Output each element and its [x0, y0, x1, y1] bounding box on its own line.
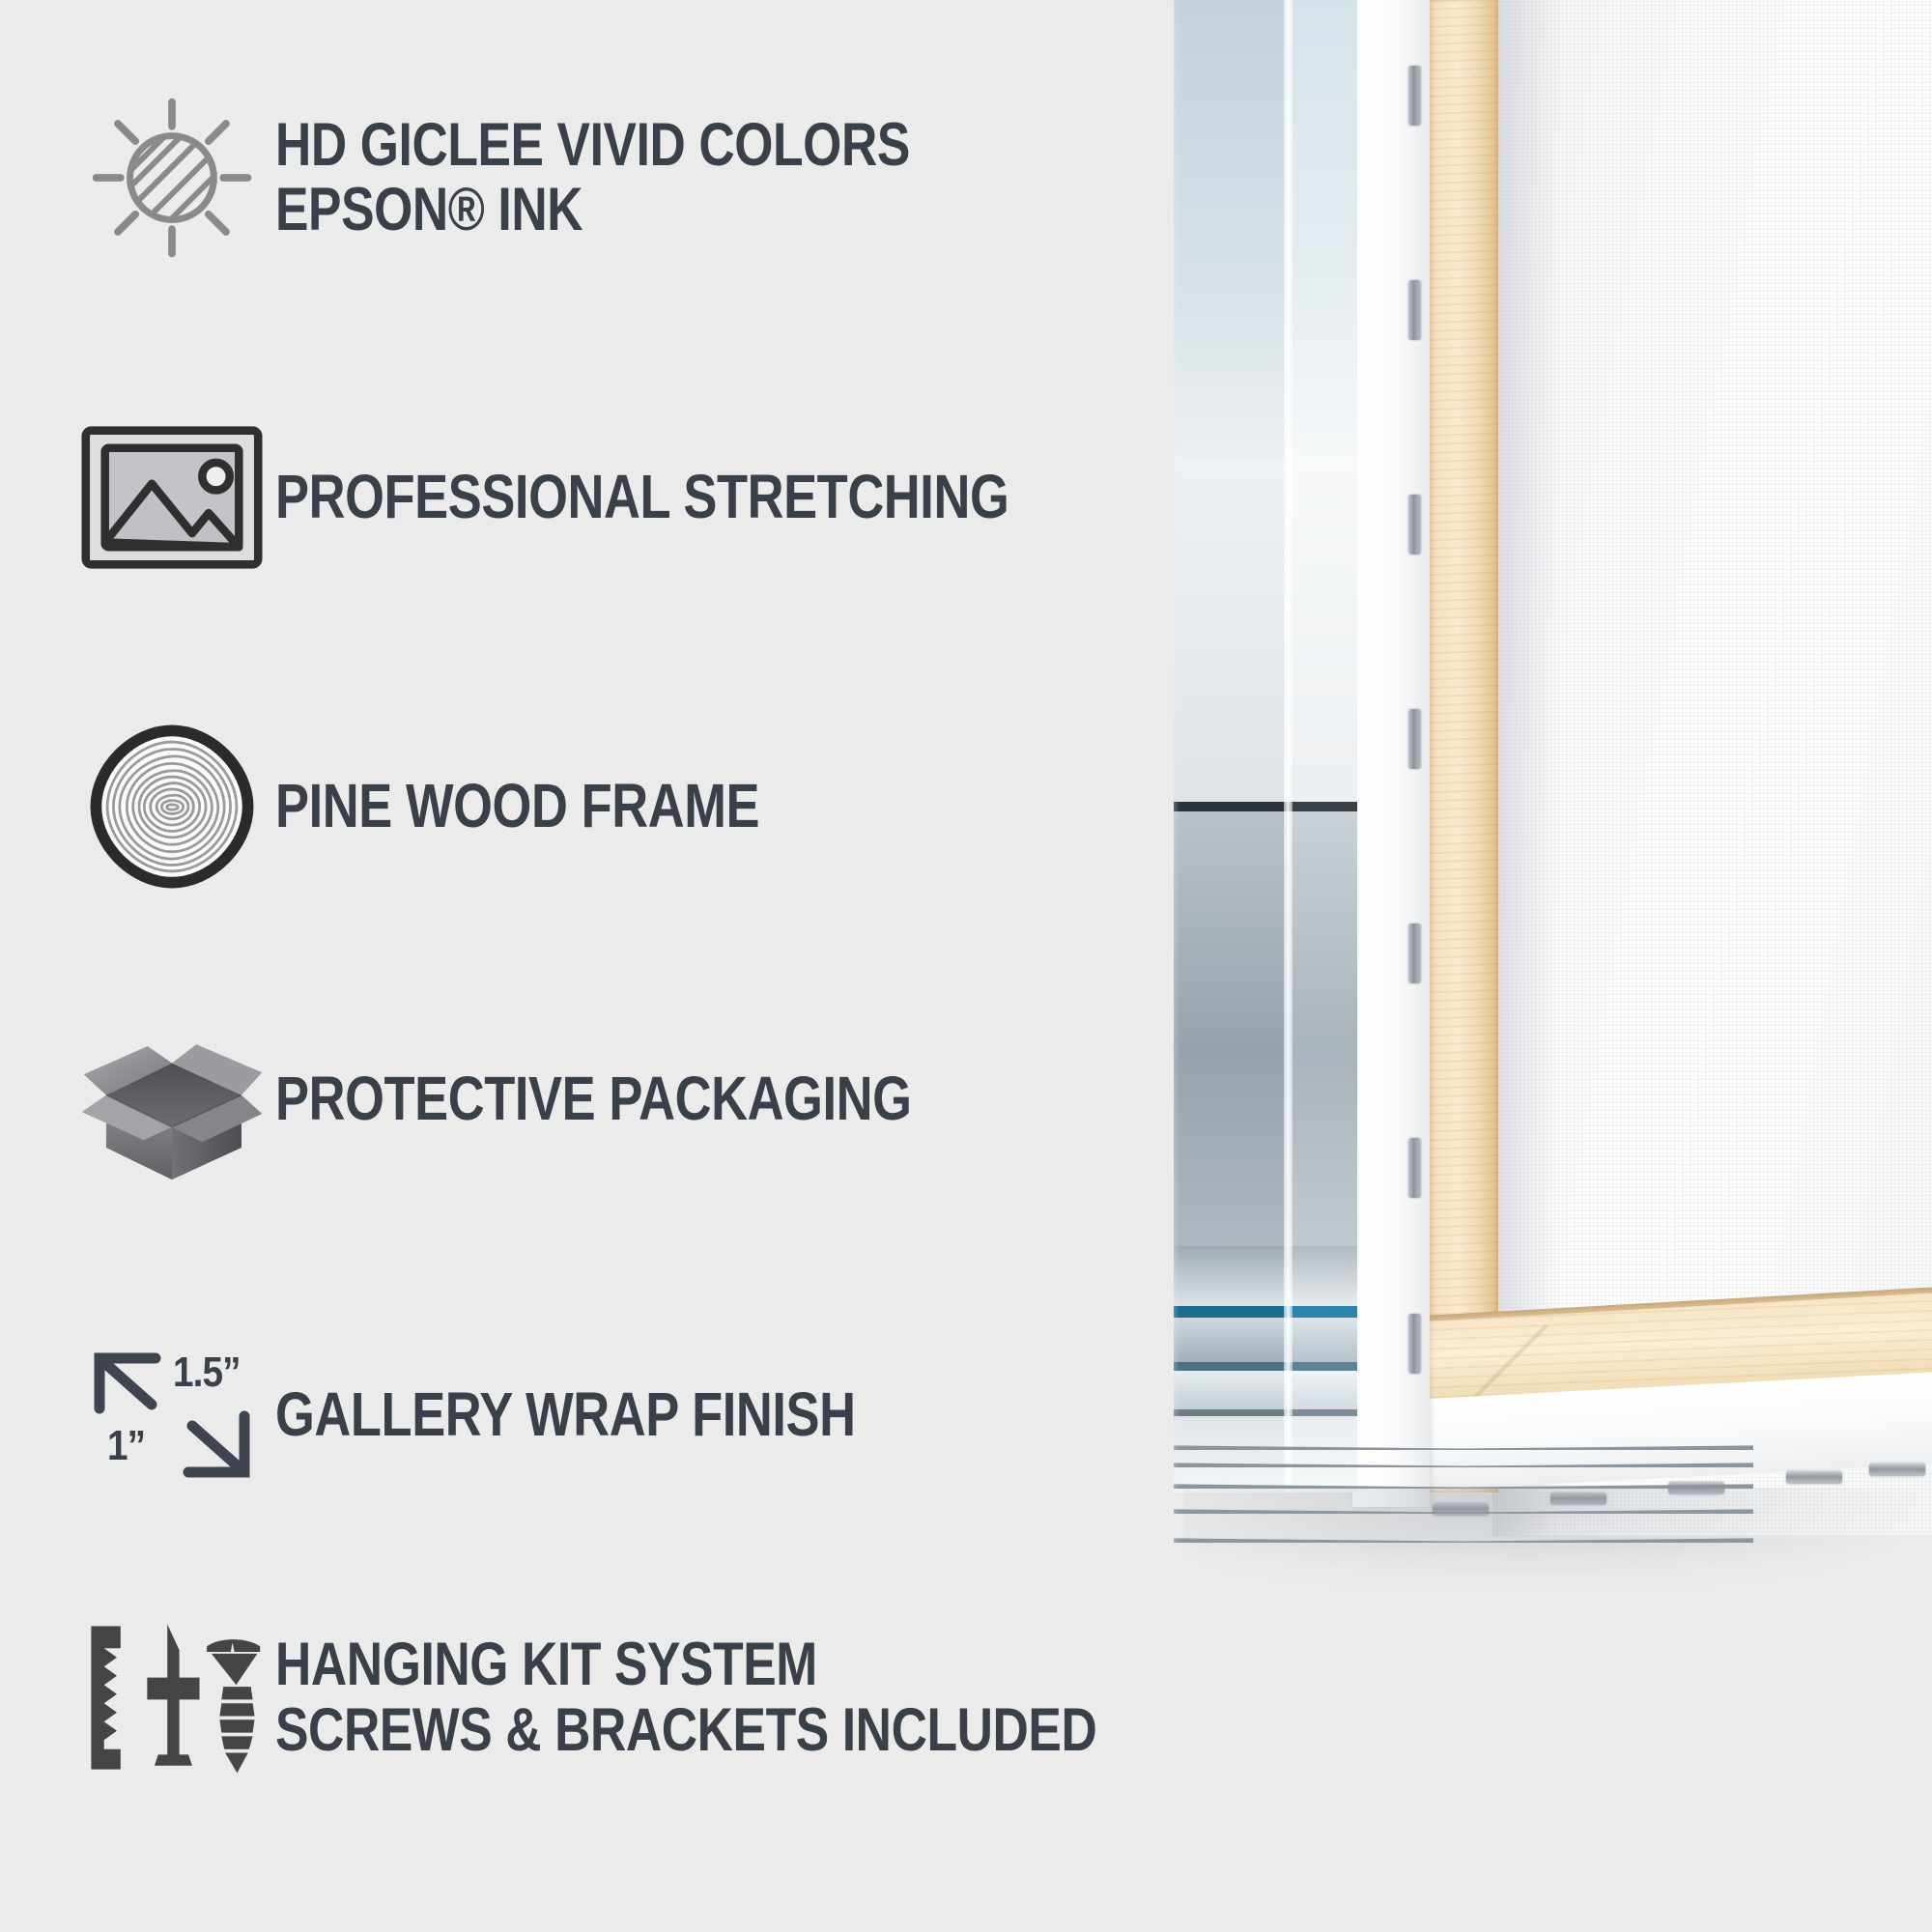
staple — [1408, 66, 1421, 126]
feature-label-line: SCREWS & BRACKETS INCLUDED — [275, 1698, 1096, 1763]
feature-icon-slot — [68, 1613, 275, 1782]
feature-label-line: PINE WOOD FRAME — [275, 775, 759, 838]
feature-label-line: GALLERY WRAP FINISH — [275, 1383, 856, 1446]
photo-bottom-fade — [1174, 1542, 1932, 1594]
feature-icon-slot: 1.5” 1” — [68, 1343, 275, 1488]
stretcher-bar-vertical — [1423, 0, 1498, 1492]
canvas-corner-photo — [1174, 0, 1932, 1594]
wrap-face-right — [1288, 0, 1357, 1492]
picture-frame-icon — [80, 425, 264, 570]
photo-left-fade — [1174, 0, 1179, 1546]
feature-label-line: PROFESSIONAL STRETCHING — [275, 466, 1009, 528]
wrap-depth-label: 1.5” — [173, 1349, 241, 1397]
feature-icon-slot — [68, 97, 275, 259]
feature-label-line: PROTECTIVE PACKAGING — [275, 1067, 912, 1130]
printed-wrapped-edge — [1174, 0, 1357, 1492]
feature-label-group: PROFESSIONAL STRETCHING — [275, 466, 1170, 528]
feature-row-protective-packaging: PROTECTIVE PACKAGING — [68, 1014, 1051, 1183]
canvas-back-shadow — [1492, 0, 1560, 1536]
feature-label-group: HANGING KIT SYSTEM SCREWS & BRACKETS INC… — [275, 1633, 1277, 1763]
wrap-face-left — [1174, 0, 1288, 1492]
feature-label-group: GALLERY WRAP FINISH — [275, 1383, 982, 1446]
feature-icon-slot — [68, 425, 275, 570]
infographic-page: HD GICLEE VIVID COLORS EPSON® INK PROFES… — [0, 0, 1932, 1932]
feature-icon-slot — [68, 724, 275, 889]
wrap-arrows-icon: 1.5” 1” — [72, 1343, 270, 1488]
wrap-corner-fold — [1284, 0, 1293, 1492]
staple — [1408, 280, 1421, 340]
wrap-arrows-glyph — [72, 1343, 270, 1488]
staple — [1786, 1471, 1842, 1484]
feature-label-group: PROTECTIVE PACKAGING — [275, 1067, 1051, 1130]
staple — [1408, 923, 1421, 983]
feature-row-hanging-kit: HANGING KIT SYSTEM SCREWS & BRACKETS INC… — [68, 1613, 1277, 1782]
staple — [1408, 495, 1421, 554]
feature-label-line: HD GICLEE VIVID COLORS — [275, 113, 910, 178]
open-box-icon — [75, 1014, 269, 1183]
hanging-hardware-icon — [80, 1613, 264, 1782]
feature-label-group: PINE WOOD FRAME — [275, 775, 866, 838]
feature-icon-slot — [68, 1014, 275, 1183]
tree-rings-icon — [90, 724, 254, 889]
sun-icon — [91, 97, 253, 259]
feature-row-hd-giclee: HD GICLEE VIVID COLORS EPSON® INK — [68, 97, 1049, 259]
feature-row-pine-wood-frame: PINE WOOD FRAME — [68, 724, 866, 889]
feature-label-line: HANGING KIT SYSTEM — [275, 1633, 1096, 1697]
feature-row-professional-stretching: PROFESSIONAL STRETCHING — [68, 425, 1170, 570]
feature-label-line: EPSON® INK — [275, 178, 910, 242]
staple — [1408, 1138, 1421, 1198]
wrap-width-label: 1” — [107, 1422, 145, 1470]
staple — [1408, 709, 1421, 769]
feature-label-group: HD GICLEE VIVID COLORS EPSON® INK — [275, 113, 1049, 243]
feature-row-gallery-wrap-finish: 1.5” 1” GALLERY WRAP FINISH — [68, 1343, 982, 1488]
staple — [1869, 1463, 1925, 1476]
staple — [1408, 1314, 1421, 1374]
